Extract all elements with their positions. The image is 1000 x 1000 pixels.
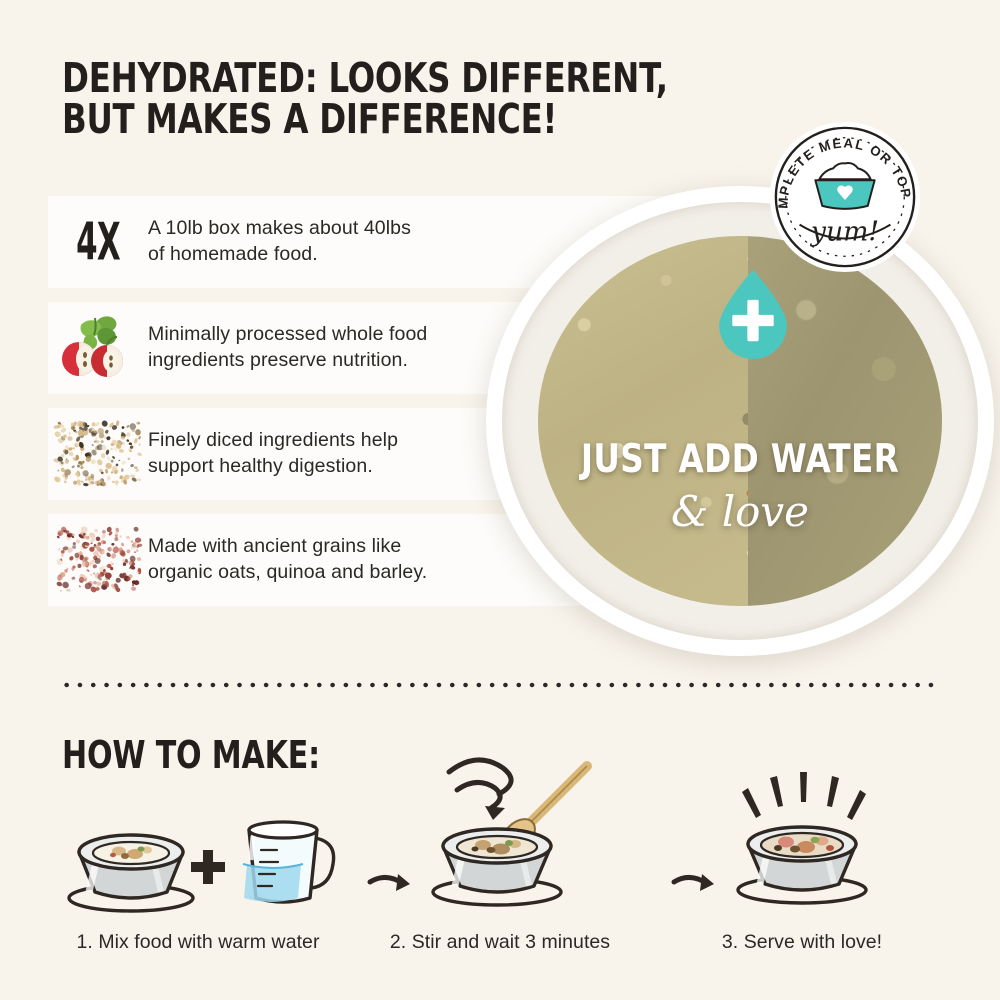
- feature-row-3-text: Finely diced ingredients help support he…: [148, 428, 398, 480]
- arrow-right-icon-2: [672, 872, 718, 898]
- feature-row-1-line-1: A 10lb box makes about 40lbs: [148, 216, 411, 242]
- diced-grain-mix-icon: [48, 408, 148, 500]
- apple-and-greens-icon: [48, 302, 148, 394]
- step-2: 2. Stir and wait 3 minutes: [350, 770, 650, 960]
- feature-row-2-line-2: ingredients preserve nutrition.: [148, 348, 427, 374]
- dog-bowl-plus-measuring-cup-icon: [48, 778, 348, 916]
- infographic-root: DEHYDRATED: LOOKS DIFFERENT, BUT MAKES A…: [0, 0, 1000, 1000]
- complete-meal-seal-badge: COMPLETE MEAL OR TOPPER yum!: [766, 118, 924, 276]
- step-3: 3. Serve with love!: [652, 770, 952, 960]
- ancient-grains-quinoa-icon: [48, 514, 148, 606]
- page-title: DEHYDRATED: LOOKS DIFFERENT, BUT MAKES A…: [62, 58, 590, 139]
- feature-row-3-line-1: Finely diced ingredients help: [148, 428, 398, 454]
- step-1: 1. Mix food with warm water: [48, 770, 348, 960]
- feature-row-4-line-2: organic oats, quinoa and barley.: [148, 560, 427, 586]
- arrow-right-icon-1: [368, 872, 414, 898]
- step-1-caption: 1. Mix food with warm water: [48, 931, 348, 954]
- feature-row-4-line-1: Made with ancient grains like: [148, 534, 427, 560]
- step-3-caption: 3. Serve with love!: [652, 931, 952, 954]
- headline-line-2: BUT MAKES A DIFFERENCE!: [62, 99, 590, 140]
- feature-row-1-text: A 10lb box makes about 40lbs of homemade…: [148, 216, 411, 268]
- 4x-multiplier-badge: 4X: [48, 196, 148, 288]
- step-2-caption: 2. Stir and wait 3 minutes: [350, 931, 650, 954]
- feature-row-2-text: Minimally processed whole food ingredien…: [148, 322, 427, 374]
- seal-script-text: yum!: [810, 216, 879, 247]
- headline-line-1: DEHYDRATED: LOOKS DIFFERENT,: [62, 58, 590, 99]
- how-to-make-steps: 1. Mix food with warm water: [48, 770, 952, 960]
- feature-row-3-line-2: support healthy digestion.: [148, 454, 398, 480]
- plus-symbol: [191, 850, 225, 884]
- feature-row-2-line-1: Minimally processed whole food: [148, 322, 427, 348]
- feature-row-1-line-2: of homemade food.: [148, 242, 411, 268]
- water-drop-plus-icon: [706, 266, 800, 360]
- feature-row-4-text: Made with ancient grains like organic oa…: [148, 534, 427, 586]
- 4x-badge-label: 4X: [76, 212, 120, 272]
- dotted-divider: [60, 681, 940, 689]
